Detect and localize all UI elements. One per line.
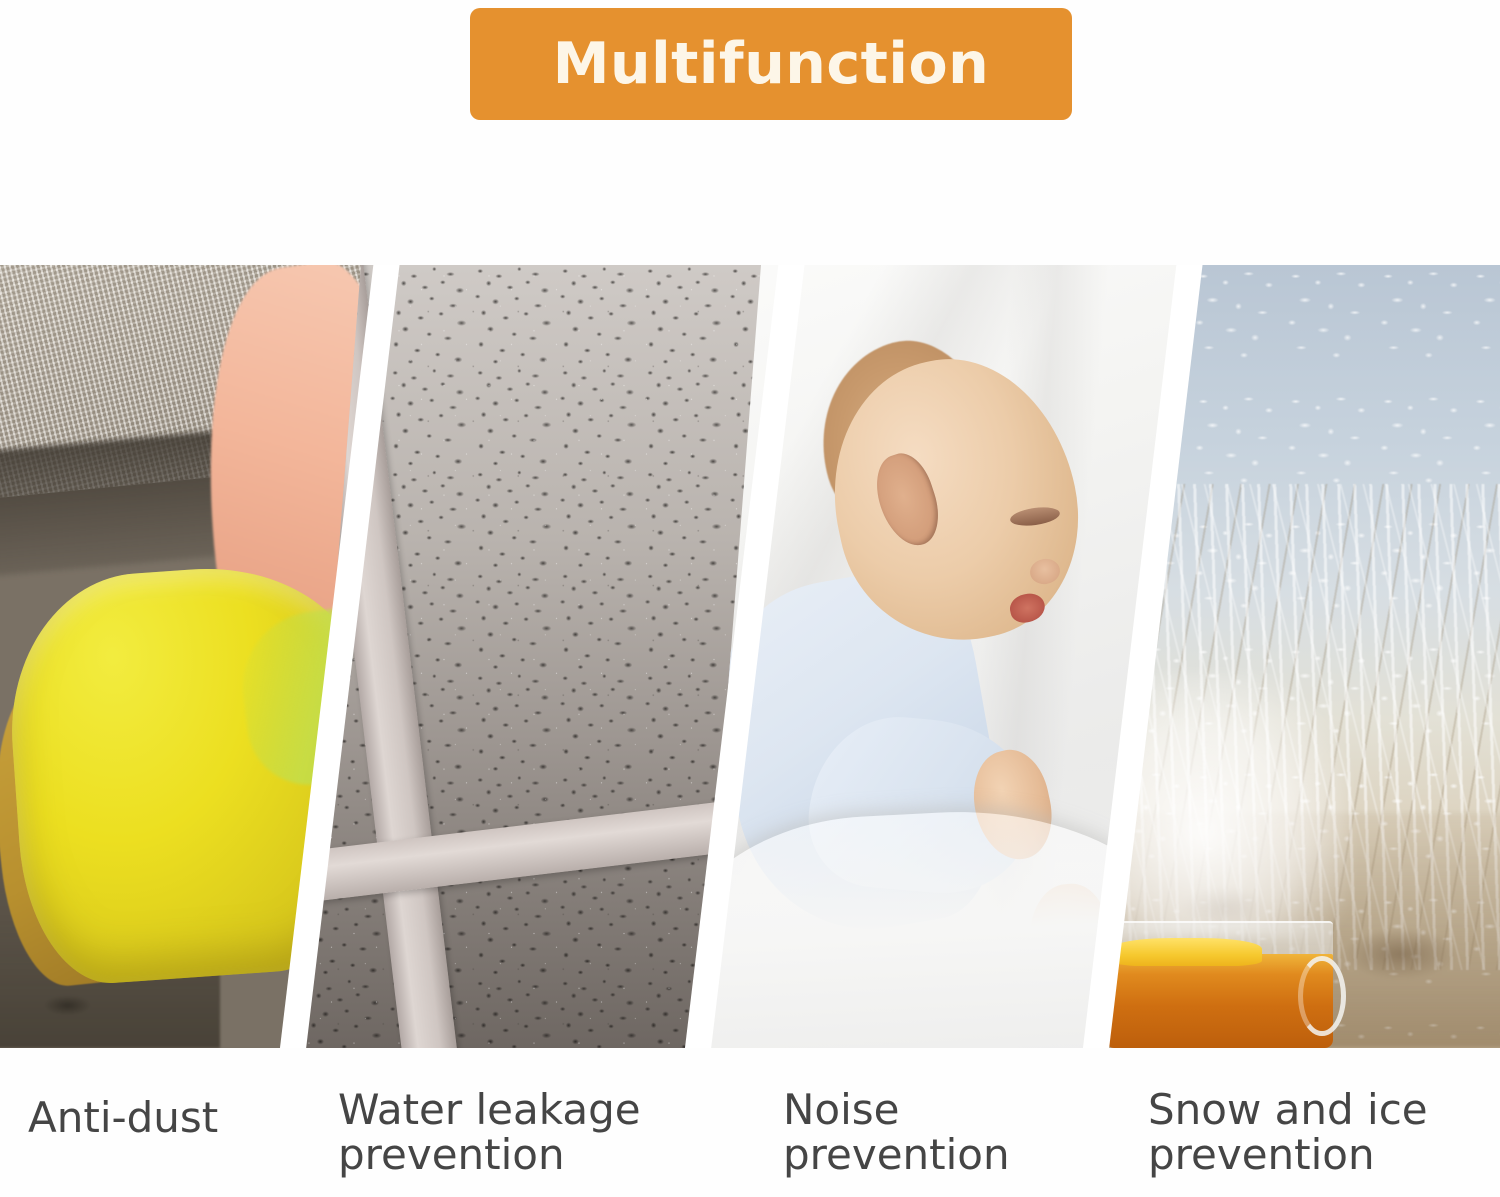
lemon-slice [1111,938,1262,965]
caption-anti-dust: Anti-dust [28,1096,218,1141]
header-banner: Multifunction [470,8,1072,120]
cup-handle [1298,956,1346,1036]
caption-water-leakage: Water leakage prevention [338,1088,641,1178]
page-title: Multifunction [553,36,989,93]
feature-photo-strip [0,265,1500,1048]
caption-snow-and-ice: Snow and ice prevention [1148,1088,1428,1178]
caption-noise-prevention: Noise prevention [783,1088,1010,1178]
caption-row: Anti-dust Water leakage prevention Noise… [0,1058,1500,1197]
